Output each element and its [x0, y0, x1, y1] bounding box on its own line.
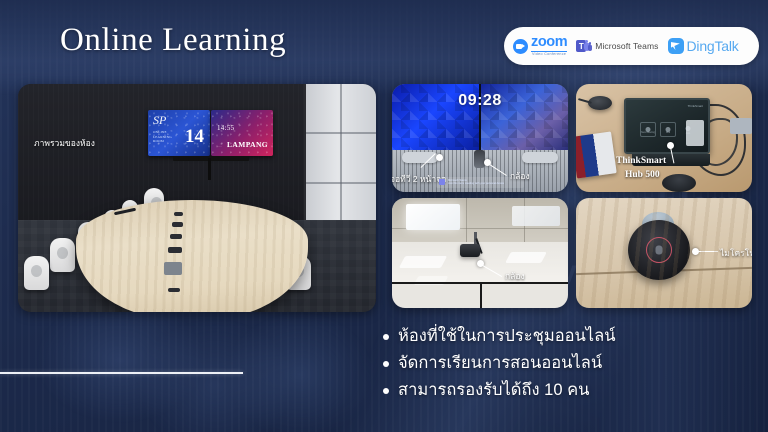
- room-overview-caption: ภาพรวมของห้อง: [34, 136, 95, 150]
- teams-toast-icon: [439, 179, 445, 185]
- microphone-mount-plate: [642, 212, 674, 236]
- hub-brand-mark: ThinkSmart: [688, 104, 703, 108]
- conference-chair: [24, 256, 49, 290]
- caption-microphone: ไมโครโฟน: [720, 246, 752, 260]
- dingtalk-logo-label: DingTalk: [687, 38, 739, 54]
- callout-dot-screens: [436, 154, 443, 161]
- floor-reflection: [399, 256, 447, 268]
- list-item: จัดการเรียนการสอนออนไลน์: [383, 353, 616, 374]
- thinksmart-hub-photo: ThinkSmart New Meeting Dial Join ThinkSm…: [576, 84, 752, 192]
- table-microphone: [168, 288, 180, 292]
- callout-leader-microphone: [696, 251, 718, 252]
- desk-gray-device: [730, 118, 752, 134]
- tv-stand: [173, 156, 249, 161]
- zoom-logo: zoom Video Conference: [513, 35, 567, 57]
- hub-tile-two: Dial: [660, 122, 676, 137]
- zoom-camera-icon: [513, 39, 528, 54]
- wall-tv-right: 14:55 ····· LAMPANG: [211, 110, 273, 156]
- desk-black-device: [662, 174, 696, 192]
- tv-pole: [208, 158, 211, 180]
- slide-canvas: problem y Online Learning zoom Video Con…: [0, 0, 768, 432]
- table-port: [168, 247, 182, 253]
- table-port: [174, 212, 183, 216]
- room-overview-photo: SP ONLINELEARNINGROOM 14 14:55 ····· LAM…: [18, 84, 376, 312]
- logo-bar: zoom Video Conference Microsoft Teams Di…: [504, 27, 759, 65]
- caption-hub-line2: Hub 500: [625, 170, 660, 180]
- zoom-logo-label: zoom: [531, 35, 567, 52]
- list-item: ห้องที่ใช้ในการประชุมออนไลน์: [383, 326, 616, 347]
- toast-text: Microsoft TeamsJoin this room meeting wi…: [448, 179, 504, 186]
- desk-wood-seam: [576, 267, 752, 275]
- hub-tile-one: New Meeting: [640, 122, 656, 137]
- list-item: สามารถรองรับได้ถึง 10 คน: [383, 380, 616, 401]
- bullet-text: สามารถรองรับได้ถึง 10 คน: [398, 380, 589, 401]
- ceiling-light-panel: [406, 204, 460, 230]
- teams-logo: Microsoft Teams: [576, 39, 658, 53]
- ceiling-camera-head: [460, 244, 480, 257]
- ceiling-light-panel: [512, 206, 560, 226]
- bullet-dot-icon: [383, 361, 389, 367]
- callout-dot-microphone: [692, 248, 699, 255]
- tv-right-clock: 14:55: [217, 124, 234, 132]
- bullet-dot-icon: [383, 388, 389, 394]
- room-cabinet: [304, 84, 376, 234]
- screen-notification-toast: Microsoft TeamsJoin this room meeting wi…: [436, 177, 524, 188]
- tv-left-room-label: ONLINELEARNINGROOM: [153, 130, 172, 144]
- caption-ceiling-camera: กล้อง: [505, 269, 525, 283]
- floor-reflection: [505, 252, 547, 263]
- table-power-box: [164, 262, 182, 275]
- microphone-photo: ไมโครโฟน: [576, 198, 752, 308]
- wall-tv-left: SP ONLINELEARNINGROOM 14: [148, 110, 210, 156]
- conference-chair: [50, 238, 75, 272]
- floor-joint-line: [480, 284, 482, 308]
- tv-left-signature: SP: [153, 113, 166, 128]
- microsoft-teams-icon: [576, 39, 592, 53]
- microphone-led-ring: [646, 237, 672, 263]
- ceiling-camera-photo: กล้อง: [392, 198, 568, 308]
- tv-right-subtext: ·····: [217, 145, 222, 149]
- bullet-dot-icon: [383, 334, 389, 340]
- table-port: [172, 222, 183, 227]
- hub-side-panel: [686, 120, 704, 146]
- conference-table: [76, 200, 308, 312]
- tv-left-room-number: 14: [185, 126, 204, 148]
- screen-clock: 09:28: [458, 92, 501, 110]
- teams-logo-label: Microsoft Teams: [595, 41, 658, 51]
- table-port: [170, 234, 182, 239]
- bullet-list: ห้องที่ใช้ในการประชุมออนไลน์ จัดการเรียน…: [383, 326, 616, 407]
- ledge-camera: [474, 150, 485, 168]
- dingtalk-logo: DingTalk: [668, 38, 739, 54]
- bullet-text: จัดการเรียนการสอนออนไลน์: [398, 353, 602, 374]
- zoom-logo-tagline: Video Conference: [531, 53, 567, 57]
- microphone-body: [628, 220, 690, 280]
- desk-books: [576, 131, 617, 178]
- page-title: Online Learning: [60, 22, 286, 59]
- ledge-pad: [522, 152, 558, 163]
- dual-screen-photo: 09:28 Microsoft TeamsJoin this room meet…: [392, 84, 568, 192]
- dingtalk-icon: [668, 38, 684, 54]
- zoom-wordmark: zoom Video Conference: [531, 35, 567, 57]
- caption-hub-line1: ThinkSmart: [616, 156, 666, 166]
- tv-right-city: LAMPANG: [227, 140, 268, 149]
- accent-divider: [0, 372, 243, 374]
- bullet-text: ห้องที่ใช้ในการประชุมออนไลน์: [398, 326, 616, 347]
